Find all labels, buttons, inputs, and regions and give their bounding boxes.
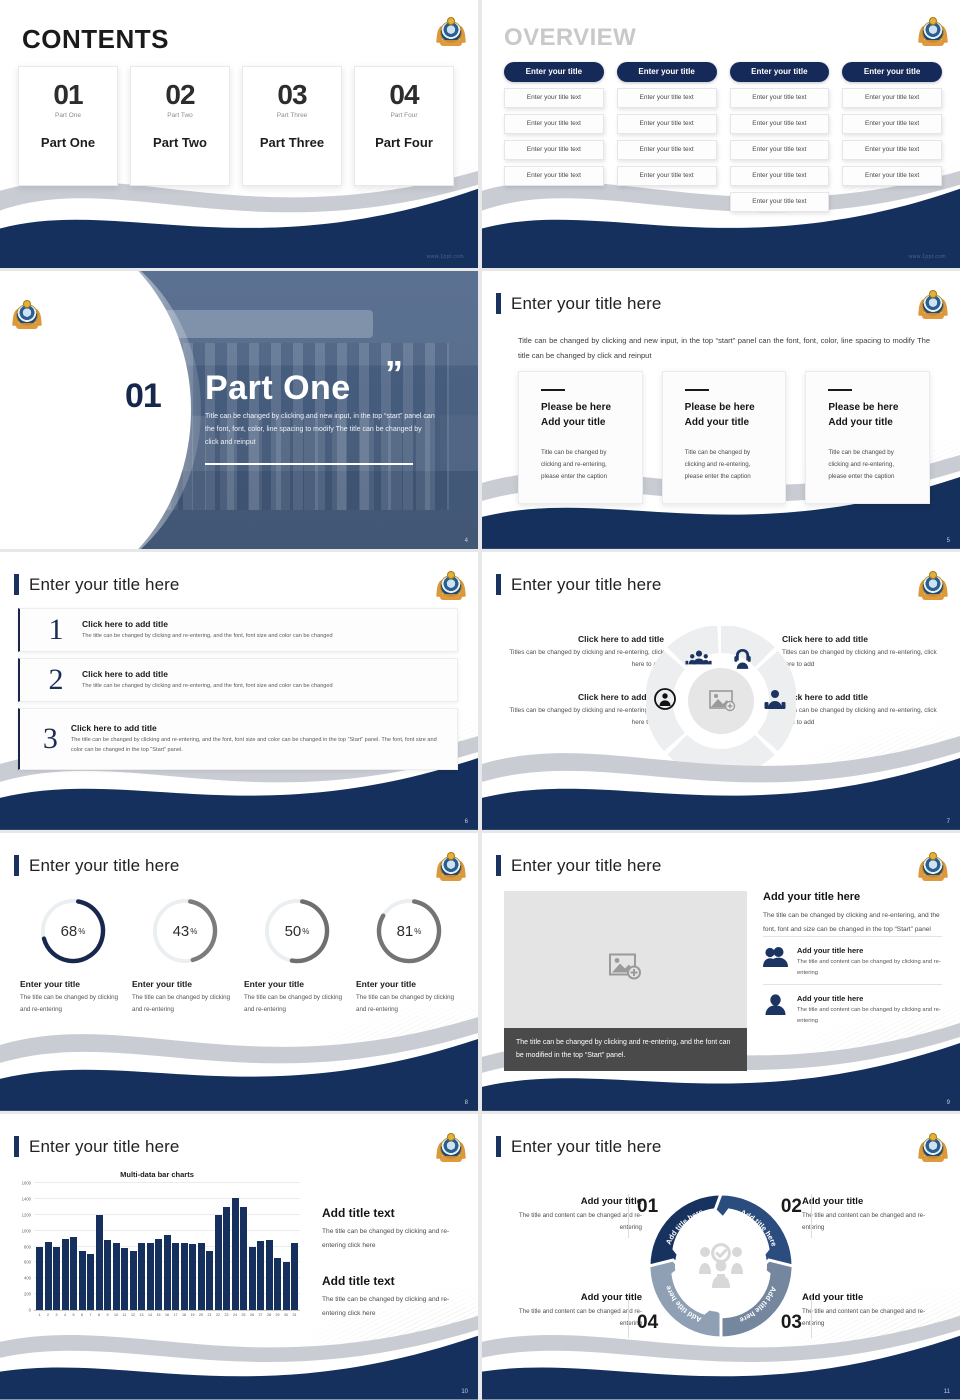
organization-logo-icon: [14, 301, 40, 329]
organization-logo-icon: [920, 18, 946, 46]
slide-section-divider[interactable]: 01 Part One ” Title can be changed by cl…: [0, 271, 478, 549]
quote-mark-icon: ”: [385, 363, 403, 385]
column-header-pill[interactable]: Enter your title: [617, 62, 717, 82]
ring-heading: Enter your title: [20, 979, 126, 989]
page-number: 11: [944, 1389, 950, 1395]
watermark-text: www.1ppt.com: [427, 254, 464, 260]
item-heading: Click here to add title: [82, 669, 333, 679]
page-title: Enter your title here: [496, 293, 661, 314]
chart-bar: [181, 1243, 188, 1310]
slide-circular-diagram[interactable]: Enter your title here Click here to add …: [482, 552, 960, 830]
image-placeholder-icon: [609, 954, 643, 987]
ring-body: The title can be changed by clicking and…: [20, 992, 126, 1016]
title-accent-bar: [496, 855, 501, 876]
overview-columns: Enter your title Enter your title text E…: [504, 62, 942, 212]
label-heading: Click here to add title: [504, 692, 664, 702]
page-title: Enter your title here: [496, 574, 661, 595]
ring-list: 68% Enter your title The title can be ch…: [20, 895, 462, 1016]
chart-x-tick-label: 1: [36, 1313, 43, 1317]
title-text: Enter your title here: [29, 856, 179, 876]
chart-x-tick-label: 4: [62, 1313, 69, 1317]
chart-x-tick-label: 16: [164, 1313, 171, 1317]
column-header-pill[interactable]: Enter your title: [504, 62, 604, 82]
column-header-pill[interactable]: Enter your title: [842, 62, 942, 82]
chart-bar: [164, 1235, 171, 1310]
progress-ring: 81%: [373, 895, 445, 967]
chart-bar: [53, 1247, 60, 1311]
ring-value: 43%: [149, 895, 221, 967]
page-title: Enter your title here: [14, 574, 179, 595]
section-number-badge: 01: [115, 371, 171, 423]
item-number: 2: [30, 665, 82, 695]
overview-item[interactable]: Enter your title text: [617, 88, 717, 108]
feature-row[interactable]: Add your title here The title and conten…: [763, 984, 942, 1032]
divider-line: [628, 1294, 629, 1338]
card-number: 04: [355, 81, 453, 109]
page-number: 8: [465, 1100, 468, 1106]
chart-x-tick-label: 30: [283, 1313, 290, 1317]
info-card[interactable]: Please be here Add your title Title can …: [518, 371, 643, 504]
divider-line: [811, 1194, 812, 1238]
card-dash-decoration: [685, 389, 709, 391]
chart-x-tick-label: 2: [45, 1313, 52, 1317]
feature-heading: Add your title here: [797, 946, 942, 955]
section-body-text: Title can be changed by clicking and new…: [205, 411, 437, 450]
chart-x-tick-label: 3: [53, 1313, 60, 1317]
item-number: 3: [30, 724, 71, 754]
chart-bar: [62, 1239, 69, 1310]
page-number: 5: [947, 538, 950, 544]
contents-card[interactable]: 01 Part One Part One: [18, 66, 118, 186]
card-subtitle: Part Two: [131, 112, 229, 119]
title-text: Enter your title here: [29, 1137, 179, 1157]
overview-column: Enter your title Enter your title text E…: [842, 62, 942, 212]
feature-body: The title and content can be changed by …: [797, 1005, 942, 1026]
chart-bars: [34, 1183, 300, 1310]
chart-bar: [291, 1243, 298, 1310]
overview-item[interactable]: Enter your title text: [730, 140, 830, 160]
chart-bar: [172, 1243, 179, 1310]
organization-logo-icon: [920, 853, 946, 881]
ring-value: 50%: [261, 895, 333, 967]
chart-bar: [96, 1215, 103, 1310]
card-heading: Please be here Add your title: [541, 400, 620, 430]
card-number: 01: [19, 81, 117, 109]
chart-x-tick-label: 19: [189, 1313, 196, 1317]
chart-bar: [45, 1242, 52, 1310]
page-title: CONTENTS: [22, 24, 169, 55]
chart-bar: [257, 1241, 264, 1310]
contents-card-list: 01 Part One Part One 02 Part Two Part Tw…: [18, 66, 454, 186]
divider-line: [811, 1294, 812, 1338]
card-subtitle: Part Four: [355, 112, 453, 119]
chart-bar: [70, 1237, 77, 1310]
card-body: Title can be changed by clicking and re-…: [828, 447, 907, 483]
slide-bar-chart[interactable]: Enter your title here Multi-data bar cha…: [0, 1114, 478, 1400]
chart-bar: [240, 1207, 247, 1310]
chart-plot-area: 02004006008001000120014001600: [34, 1183, 300, 1311]
chart-bar: [113, 1243, 120, 1310]
title-text: Enter your title here: [511, 294, 661, 314]
title-accent-bar: [496, 574, 501, 595]
label-body: The title and content can be changed and…: [802, 1210, 938, 1234]
cycle-label-03[interactable]: Add your title The title and content can…: [802, 1292, 938, 1330]
panel-heading: Add your title here: [763, 891, 942, 903]
organization-logo-icon: [438, 853, 464, 881]
card-label: Part Three: [243, 135, 341, 150]
chart-x-tick-label: 17: [172, 1313, 179, 1317]
label-heading: Add your title: [802, 1292, 938, 1303]
overview-item[interactable]: Enter your title text: [842, 114, 942, 134]
chart-y-tick-label: 1400: [22, 1196, 34, 1201]
chart-x-tick-labels: 1234567891011121314151617181920212223242…: [34, 1311, 300, 1317]
page-title: Enter your title here: [14, 855, 179, 876]
chart-bar: [274, 1258, 281, 1310]
info-card[interactable]: Please be here Add your title Title can …: [805, 371, 930, 504]
chart-bar: [121, 1248, 128, 1310]
watermark-text: www.1ppt.com: [909, 254, 946, 260]
cycle-label-04[interactable]: Add your title The title and content can…: [506, 1292, 642, 1330]
chart-x-tick-label: 20: [198, 1313, 205, 1317]
column-header-pill[interactable]: Enter your title: [730, 62, 830, 82]
card-subtitle: Part Three: [243, 112, 341, 119]
list-item[interactable]: 3 Click here to add title The title can …: [18, 708, 458, 770]
organization-logo-icon: [920, 572, 946, 600]
image-placeholder[interactable]: The title can be changed by clicking and…: [504, 891, 747, 1071]
title-text: Enter your title here: [511, 1137, 661, 1157]
label-heading: Add your title: [802, 1196, 938, 1207]
organization-logo-icon: [438, 18, 464, 46]
ring-body: The title can be changed by clicking and…: [244, 992, 350, 1016]
chart-x-tick-label: 22: [215, 1313, 222, 1317]
text-panel: Add title text The title can be changed …: [322, 1206, 462, 1342]
page-number: 4: [465, 538, 468, 544]
chart-y-tick-label: 1600: [22, 1181, 34, 1186]
card-dash-decoration: [541, 389, 565, 391]
list-item[interactable]: 1 Click here to add title The title can …: [18, 608, 458, 652]
label-heading: Click here to add title: [782, 692, 942, 702]
title-accent-bar: [14, 855, 19, 876]
chart-x-tick-label: 7: [87, 1313, 94, 1317]
chart-x-tick-label: 29: [274, 1313, 281, 1317]
label-heading: Add your title: [506, 1196, 642, 1207]
card-number: 02: [131, 81, 229, 109]
page-number: 6: [465, 819, 468, 825]
overview-item[interactable]: Enter your title text: [842, 166, 942, 186]
panel-body: The title can be changed by clicking and…: [322, 1293, 462, 1320]
content-panel: Add your title here The title can be cha…: [763, 891, 942, 1033]
page-number: 9: [947, 1100, 950, 1106]
cycle-label-01[interactable]: Add your title The title and content can…: [506, 1196, 642, 1234]
chart-bar: [79, 1251, 86, 1310]
label-body: Titles can be changed by clicking and re…: [504, 705, 664, 730]
ring-item[interactable]: 68% Enter your title The title can be ch…: [20, 895, 126, 1016]
chart-bar: [87, 1254, 94, 1310]
overview-item[interactable]: Enter your title text: [730, 192, 830, 212]
chart-bar: [147, 1243, 154, 1310]
chart-x-tick-label: 11: [121, 1313, 128, 1317]
chart-title: Multi-data bar charts: [14, 1170, 300, 1179]
chart-y-tick-label: 1200: [22, 1212, 34, 1217]
chart-bar: [215, 1215, 222, 1310]
chart-bar: [249, 1247, 256, 1311]
chart-x-tick-label: 9: [104, 1313, 111, 1317]
diagram-label-top-left[interactable]: Click here to add title Titles can be ch…: [504, 634, 664, 672]
page-number: 7: [947, 819, 950, 825]
chart-bar: [266, 1240, 273, 1310]
label-heading: Add your title: [506, 1292, 642, 1303]
item-heading: Click here to add title: [71, 723, 447, 733]
ring-heading: Enter your title: [244, 979, 350, 989]
slide-overview[interactable]: OVERVIEW Enter your title Enter your tit…: [482, 0, 960, 268]
diagram-label-bottom-left[interactable]: Click here to add title Titles can be ch…: [504, 692, 664, 730]
slide-image-with-list[interactable]: Enter your title here The title can be c…: [482, 833, 960, 1111]
card-label: Part Four: [355, 135, 453, 150]
one-person-icon: [763, 994, 788, 1021]
card-number: 03: [243, 81, 341, 109]
title-accent-bar: [14, 574, 19, 595]
chart-x-tick-label: 5: [70, 1313, 77, 1317]
chart-bar: [155, 1239, 162, 1310]
divider-rule: [205, 463, 413, 465]
overview-item[interactable]: Enter your title text: [842, 140, 942, 160]
page-title: Enter your title here: [496, 1136, 661, 1157]
slide-percentage-rings[interactable]: Enter your title here 68% Enter your tit…: [0, 833, 478, 1111]
chart-bar: [189, 1244, 196, 1310]
slide-three-cards[interactable]: Enter your title here Title can be chang…: [482, 271, 960, 549]
chart-bar: [223, 1207, 230, 1310]
overview-item[interactable]: Enter your title text: [504, 140, 604, 160]
ring-body: The title can be changed by clicking and…: [356, 992, 462, 1016]
card-body: Title can be changed by clicking and re-…: [541, 447, 620, 483]
label-body: The title and content can be changed and…: [506, 1210, 642, 1234]
bar-chart[interactable]: Multi-data bar charts 020040060080010001…: [14, 1170, 300, 1350]
label-body: Titles can be changed by clicking and re…: [782, 647, 942, 672]
page-title: Enter your title here: [14, 1136, 179, 1157]
chart-x-tick-label: 27: [257, 1313, 264, 1317]
chart-bar: [36, 1247, 43, 1310]
divider-line: [628, 1194, 629, 1238]
progress-ring: 43%: [149, 895, 221, 967]
label-heading: Click here to add title: [504, 634, 664, 644]
info-card[interactable]: Please be here Add your title Title can …: [662, 371, 787, 504]
chart-x-tick-label: 12: [130, 1313, 137, 1317]
page-title: Enter your title here: [496, 855, 661, 876]
chart-bar: [232, 1198, 239, 1310]
chart-x-tick-label: 13: [138, 1313, 145, 1317]
overview-column: Enter your title Enter your title text E…: [730, 62, 830, 212]
chart-x-tick-label: 28: [266, 1313, 273, 1317]
overview-item[interactable]: Enter your title text: [617, 166, 717, 186]
title-accent-bar: [496, 293, 501, 314]
label-body: Titles can be changed by clicking and re…: [504, 647, 664, 672]
chart-x-tick-label: 31: [291, 1313, 298, 1317]
card-subtitle: Part One: [19, 112, 117, 119]
ring-heading: Enter your title: [356, 979, 462, 989]
chart-x-tick-label: 15: [155, 1313, 162, 1317]
overview-column: Enter your title Enter your title text E…: [617, 62, 717, 212]
label-heading: Click here to add title: [782, 634, 942, 644]
title-accent-bar: [496, 1136, 501, 1157]
two-people-icon: [763, 946, 788, 973]
panel-body: The title can be changed by clicking and…: [322, 1225, 462, 1252]
chart-bar: [104, 1240, 111, 1310]
card-list: Please be here Add your title Title can …: [518, 371, 930, 504]
chart-x-tick-label: 25: [240, 1313, 247, 1317]
panel-heading: Add title text: [322, 1274, 462, 1288]
card-body: Title can be changed by clicking and re-…: [685, 447, 764, 483]
diagram-caption: Add your title: [689, 770, 753, 781]
image-caption: The title can be changed by clicking and…: [504, 1028, 747, 1071]
card-heading: Please be here Add your title: [828, 400, 907, 430]
item-heading: Click here to add title: [82, 619, 333, 629]
title-accent-bar: [14, 1136, 19, 1157]
ring-heading: Enter your title: [132, 979, 238, 989]
diagram-label-bottom-right[interactable]: Click here to add title Titles can be ch…: [782, 692, 942, 730]
chart-y-tick-label: 800: [24, 1244, 34, 1249]
overview-item[interactable]: Enter your title text: [504, 114, 604, 134]
chart-y-tick-label: 200: [24, 1292, 34, 1297]
chart-bar: [130, 1251, 137, 1310]
chart-x-tick-label: 10: [113, 1313, 120, 1317]
overview-item[interactable]: Enter your title text: [730, 166, 830, 186]
slide-contents[interactable]: CONTENTS 01 Part One Part One 02 Part Tw…: [0, 0, 478, 268]
ring-item[interactable]: 50% Enter your title The title can be ch…: [244, 895, 350, 1016]
overview-item[interactable]: Enter your title text: [730, 88, 830, 108]
chart-x-tick-label: 23: [223, 1313, 230, 1317]
diagram-label-top-right[interactable]: Click here to add title Titles can be ch…: [782, 634, 942, 672]
contents-card[interactable]: 02 Part Two Part Two: [130, 66, 230, 186]
chart-x-tick-label: 14: [147, 1313, 154, 1317]
card-label: Part One: [19, 135, 117, 150]
overview-column: Enter your title Enter your title text E…: [504, 62, 604, 212]
page-title: OVERVIEW: [504, 24, 636, 52]
card-label: Part Two: [131, 135, 229, 150]
progress-ring: 50%: [261, 895, 333, 967]
chart-x-tick-label: 24: [232, 1313, 239, 1317]
organization-logo-icon: [438, 572, 464, 600]
overview-item[interactable]: Enter your title text: [617, 140, 717, 160]
contents-card[interactable]: 04 Part Four Part Four: [354, 66, 454, 186]
progress-ring: 68%: [37, 895, 109, 967]
chart-y-tick-label: 600: [24, 1260, 34, 1265]
cycle-label-02[interactable]: Add your title The title and content can…: [802, 1196, 938, 1234]
title-text: Enter your title here: [511, 575, 661, 595]
feature-body: The title and content can be changed by …: [797, 957, 942, 978]
contents-card[interactable]: 03 Part Three Part Three: [242, 66, 342, 186]
ring-body: The title can be changed by clicking and…: [132, 992, 238, 1016]
organization-logo-icon: [920, 291, 946, 319]
chart-y-tick-label: 400: [24, 1276, 34, 1281]
cycle-chevron-diagram[interactable]: Add title here Add title here Add title …: [641, 1186, 801, 1346]
chart-y-tick-label: 1000: [22, 1228, 34, 1233]
title-text: Enter your title here: [511, 856, 661, 876]
item-body: The title can be changed by clicking and…: [82, 682, 333, 692]
overview-item[interactable]: Enter your title text: [617, 114, 717, 134]
feature-heading: Add your title here: [797, 994, 942, 1003]
organization-logo-icon: [438, 1134, 464, 1162]
ring-item[interactable]: 81% Enter your title The title can be ch…: [356, 895, 462, 1016]
donut-diagram[interactable]: [646, 626, 796, 776]
panel-heading: Add title text: [322, 1206, 462, 1220]
chart-bar: [206, 1251, 213, 1310]
lead-paragraph: Title can be changed by clicking and new…: [518, 333, 930, 364]
organization-logo-icon: [920, 1134, 946, 1162]
label-body: The title and content can be changed and…: [802, 1306, 938, 1330]
section-title: Part One: [205, 369, 351, 408]
overview-item[interactable]: Enter your title text: [504, 88, 604, 108]
chart-x-tick-label: 8: [96, 1313, 103, 1317]
item-body: The title can be changed by clicking and…: [82, 632, 333, 642]
page-number: 10: [461, 1389, 468, 1395]
slide-numbered-list[interactable]: Enter your title here 1 Click here to ad…: [0, 552, 478, 830]
ring-value: 68%: [37, 895, 109, 967]
overview-item[interactable]: Enter your title text: [730, 114, 830, 134]
title-text: Enter your title here: [29, 575, 179, 595]
slide-cycle-diagram[interactable]: Enter your title here Add your title The…: [482, 1114, 960, 1400]
card-heading: Please be here Add your title: [685, 400, 764, 430]
overview-item[interactable]: Enter your title text: [504, 166, 604, 186]
chart-x-tick-label: 6: [79, 1313, 86, 1317]
card-dash-decoration: [828, 389, 852, 391]
chart-bar: [198, 1243, 205, 1310]
ring-value: 81%: [373, 895, 445, 967]
feature-row[interactable]: Add your title here The title and conten…: [763, 936, 942, 984]
chart-x-tick-label: 18: [181, 1313, 188, 1317]
label-body: Titles can be changed by clicking and re…: [782, 705, 942, 730]
label-body: The title and content can be changed and…: [506, 1306, 642, 1330]
chart-bar: [283, 1262, 290, 1310]
overview-item[interactable]: Enter your title text: [842, 88, 942, 108]
list-container: 1 Click here to add title The title can …: [18, 608, 458, 770]
ring-item[interactable]: 43% Enter your title The title can be ch…: [132, 895, 238, 1016]
item-body: The title can be changed by clicking and…: [71, 736, 447, 755]
list-item[interactable]: 2 Click here to add title The title can …: [18, 658, 458, 702]
chart-x-tick-label: 21: [206, 1313, 213, 1317]
chart-x-tick-label: 26: [249, 1313, 256, 1317]
chart-bar: [138, 1243, 145, 1310]
panel-body: The title can be changed by clicking and…: [763, 909, 942, 936]
item-number: 1: [30, 615, 82, 645]
